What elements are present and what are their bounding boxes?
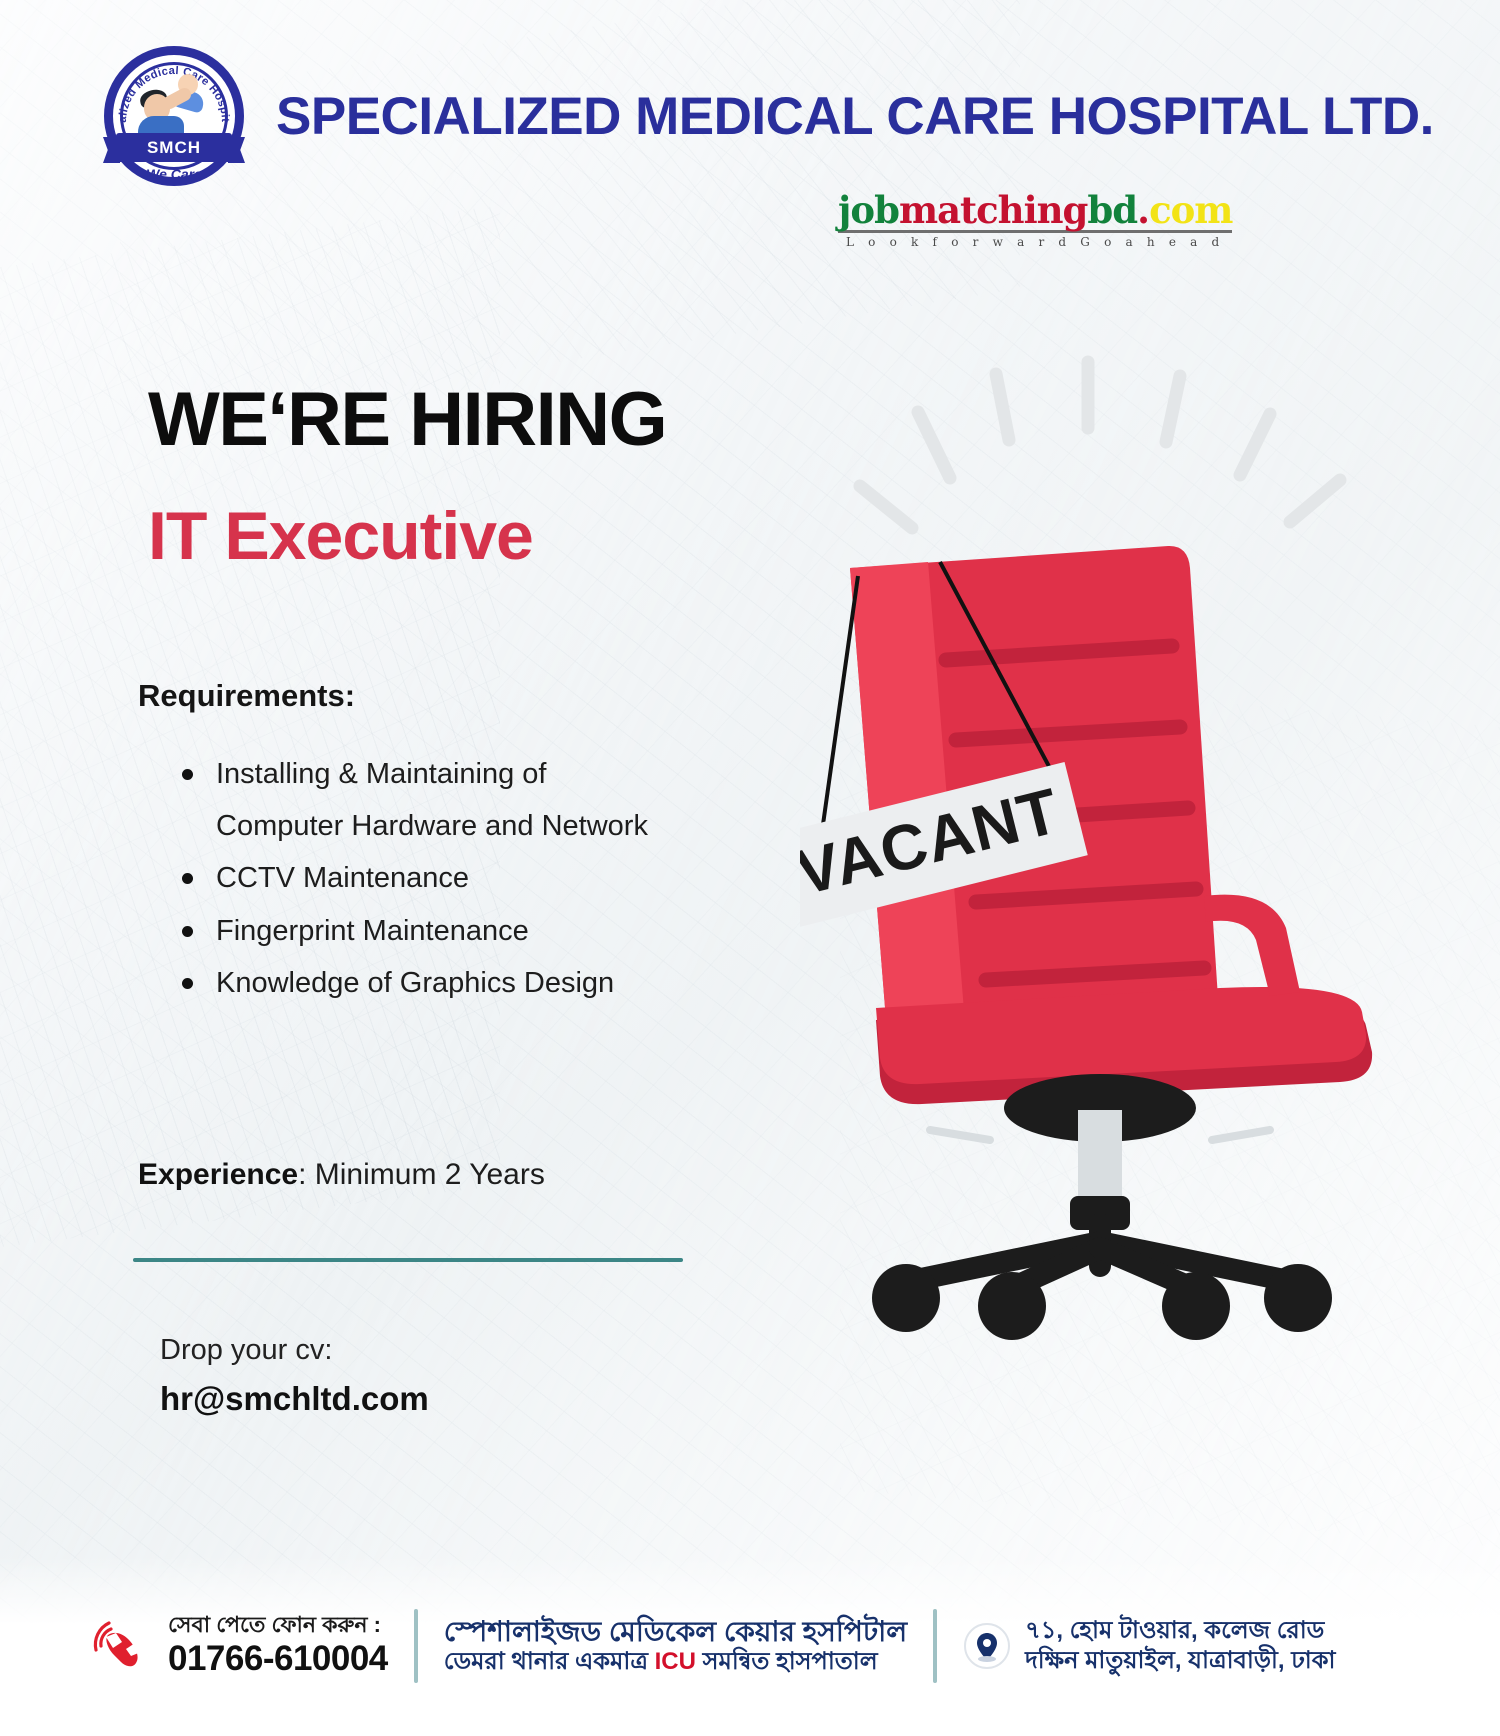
watermark-tagline: L o o k f o r w a r d G o a h e a d: [838, 235, 1232, 249]
logo-family-icon: [138, 72, 210, 134]
logo-slogan: We Care: [104, 166, 244, 182]
jobmatchingbd-watermark: jobmatchingbd.com L o o k f o r w a r d …: [838, 192, 1232, 249]
watermark-job: job: [838, 188, 899, 232]
hospital-name-bn: স্পেশালাইজড মেডিকেল কেয়ার হসপিটাল: [444, 1615, 907, 1649]
hospital-tagline-bn: ডেমরা থানার একমাত্র ICU সমন্বিত হাসপাতাল: [444, 1648, 907, 1677]
address-line-1: ৭১, হোম টাওয়ার, কলেজ রোড: [1025, 1616, 1335, 1646]
job-poster: Specialized Medical Care Hospital Ltd SM…: [0, 0, 1500, 1736]
section-divider: [133, 1258, 683, 1262]
cv-email: hr@smchltd.com: [160, 1380, 429, 1418]
cv-label: Drop your cv:: [160, 1334, 332, 1367]
icu-badge: ICU: [655, 1648, 696, 1675]
watermark-wordmark: jobmatchingbd.com: [838, 192, 1232, 229]
phone-ringing-icon: [92, 1619, 150, 1673]
footer-address-block: ৭১, হোম টাওয়ার, কলেজ রোড দক্ষিন মাতুয়া…: [963, 1616, 1335, 1676]
requirements-label: Requirements:: [138, 678, 355, 714]
requirements-list: Installing & Maintaining of Computer Har…: [160, 748, 680, 1009]
footer-hospital-block: স্পেশালাইজড মেডিকেল কেয়ার হসপিটাল ডেমরা…: [444, 1615, 907, 1677]
watermark-com: com: [1149, 188, 1232, 232]
list-item: Fingerprint Maintenance: [160, 905, 680, 957]
company-logo: Specialized Medical Care Hospital Ltd SM…: [104, 46, 244, 186]
poster-footer: সেবা পেতে ফোন করুন : 01766-610004 স্পেশা…: [0, 1556, 1500, 1736]
sparkle-rays: [860, 362, 1340, 528]
watermark-matching: matching: [899, 188, 1087, 232]
experience-line: Experience: Minimum 2 Years: [138, 1158, 545, 1192]
job-title: IT Executive: [148, 502, 533, 570]
experience-label: Experience: [138, 1158, 298, 1191]
phone-number[interactable]: 01766-610004: [168, 1638, 388, 1679]
company-name: SPECIALIZED MEDICAL CARE HOSPITAL LTD.: [276, 86, 1434, 147]
address-line-2: দক্ষিন মাতুয়াইল, যাত্রাবাড়ী, ঢাকা: [1025, 1646, 1335, 1676]
watermark-bd: bd: [1087, 188, 1137, 232]
list-item: Installing & Maintaining of Computer Har…: [160, 748, 680, 852]
poster-header: Specialized Medical Care Hospital Ltd SM…: [0, 46, 1500, 186]
logo-monogram: SMCH: [116, 133, 232, 162]
chair-illustration: VACANT: [800, 340, 1440, 1350]
phone-caption: সেবা পেতে ফোন করুন :: [168, 1612, 388, 1638]
footer-separator-2: [933, 1609, 937, 1683]
experience-value: : Minimum 2 Years: [298, 1158, 545, 1191]
headline-were-hiring: WE‘RE HIRING: [148, 382, 666, 458]
chair-armrest: [1204, 895, 1300, 996]
watermark-dot: .: [1137, 188, 1149, 232]
footer-separator-1: [414, 1609, 418, 1683]
footer-phone-block: সেবা পেতে ফোন করুন : 01766-610004: [0, 1612, 388, 1679]
list-item: CCTV Maintenance: [160, 852, 680, 904]
list-item: Knowledge of Graphics Design: [160, 957, 680, 1009]
location-pin-icon: [963, 1622, 1011, 1670]
hospital-tagline-post: সমন্বিত হাসপাতাল: [696, 1648, 878, 1675]
chair-base: [872, 1074, 1332, 1340]
hospital-tagline-pre: ডেমরা থানার একমাত্র: [444, 1648, 655, 1675]
